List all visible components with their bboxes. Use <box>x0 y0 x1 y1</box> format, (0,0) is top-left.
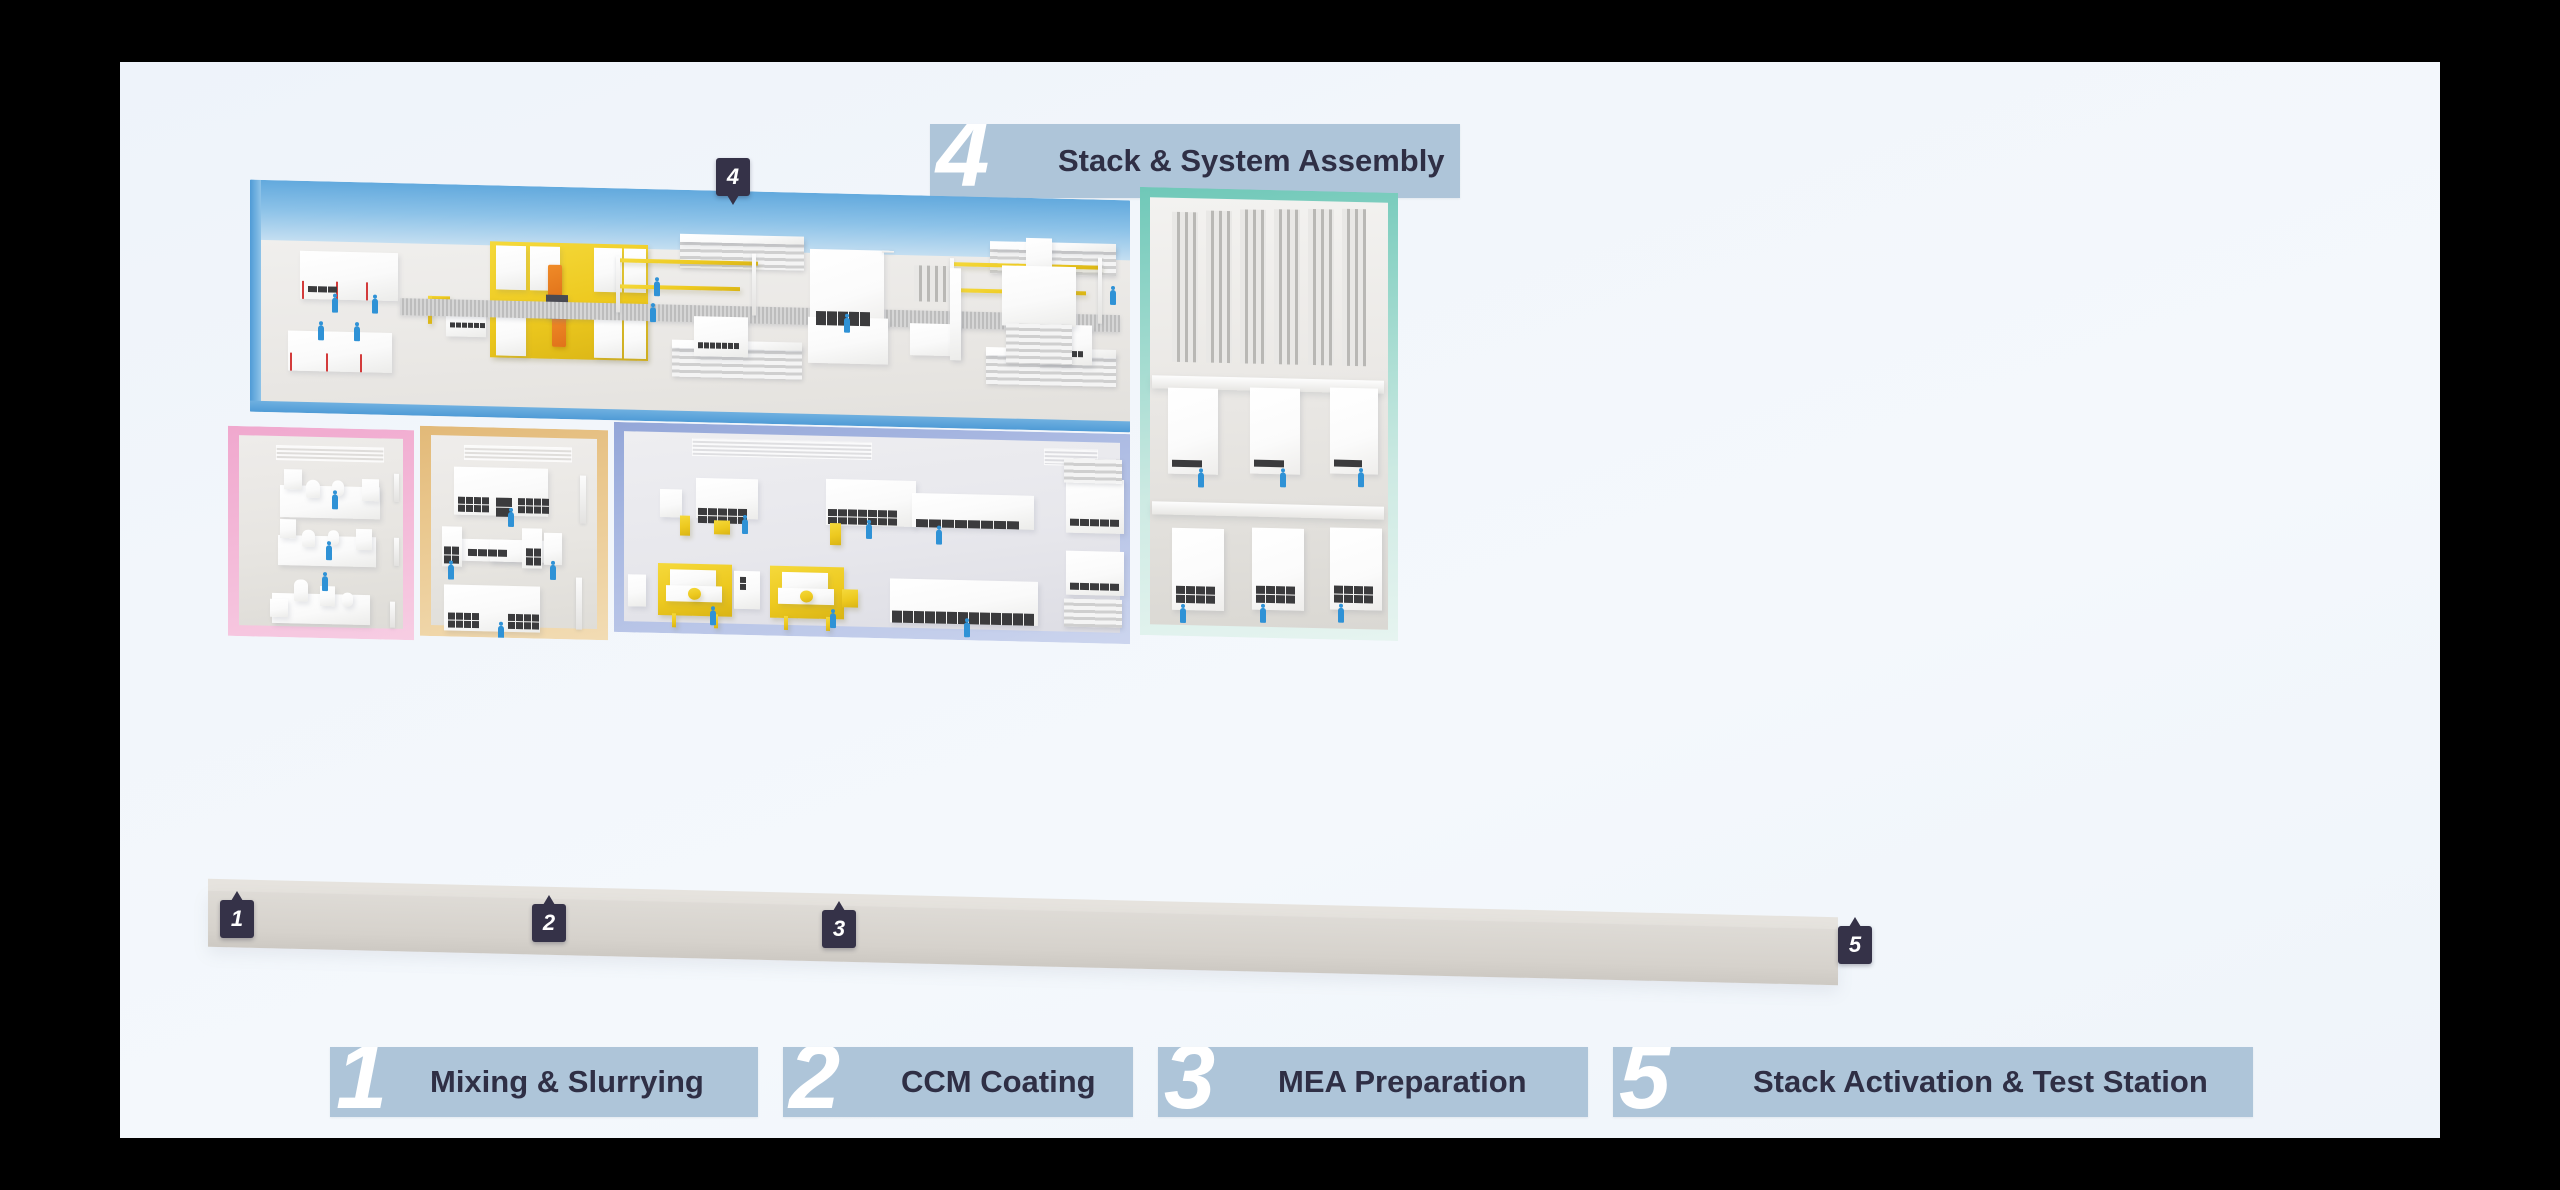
worker-figure <box>742 519 748 534</box>
press-leg <box>672 613 676 627</box>
legend-item-5[interactable]: 5 Stack Activation & Test Station <box>1613 1047 2253 1117</box>
transfer-unit <box>734 571 760 610</box>
wall-pipe <box>394 538 399 566</box>
worker-figure <box>448 564 454 579</box>
panel-grid <box>458 497 489 513</box>
worker-figure <box>710 610 716 625</box>
loader-rack <box>680 515 690 535</box>
worker-figure <box>322 576 328 591</box>
panel-grid <box>1256 586 1295 604</box>
panel-grid <box>518 498 549 514</box>
panel-grid <box>1176 586 1215 604</box>
worker-figure <box>936 530 942 545</box>
mixer-vessel <box>284 469 302 489</box>
worker-figure <box>1260 608 1266 623</box>
mixer-vessel <box>270 599 288 617</box>
legend-item-5-number: 5 <box>1619 1047 1666 1117</box>
legend-item-2[interactable]: 2 CCM Coating <box>783 1047 1133 1117</box>
floor-marker-5[interactable]: 5 <box>1838 926 1872 964</box>
mixer-vessel <box>362 479 379 501</box>
station-display <box>1334 460 1362 468</box>
legend-item-2-label: CCM Coating <box>901 1064 1096 1100</box>
storage-rack <box>1064 599 1122 628</box>
worker-figure <box>1180 608 1186 623</box>
room-stack-activation-test <box>1140 187 1398 641</box>
press-disc <box>800 590 813 602</box>
worker-figure <box>1358 472 1364 487</box>
legend-item-3-label: MEA Preparation <box>1278 1064 1527 1100</box>
mixer-vessel <box>280 519 296 538</box>
floor-marker-2[interactable]: 2 <box>532 904 566 942</box>
legend-item-3-number: 3 <box>1164 1047 1211 1117</box>
room4-right-objects <box>250 180 1130 433</box>
test-rack-column <box>1274 209 1300 365</box>
feeder-unit <box>714 520 730 534</box>
worker-figure <box>508 512 514 527</box>
panel-grid <box>526 548 541 565</box>
worker-figure <box>326 545 332 560</box>
mixer-vessel <box>294 579 308 601</box>
room-mea-preparation <box>614 422 1130 644</box>
legend-item-5-label: Stack Activation & Test Station <box>1753 1064 2208 1100</box>
zone-legend: 1 Mixing & Slurrying 2 CCM Coating 3 MEA… <box>330 1047 2253 1117</box>
worker-figure <box>866 524 872 539</box>
panel-grid <box>1070 519 1119 527</box>
wall-pipe <box>576 577 582 629</box>
legend-item-1[interactable]: 1 Mixing & Slurrying <box>330 1047 758 1117</box>
panel-grid <box>448 612 479 628</box>
worker-figure <box>498 626 504 641</box>
ceiling-vent <box>276 445 384 463</box>
legend-item-1-label: Mixing & Slurrying <box>430 1064 704 1100</box>
test-rack-column <box>1308 209 1334 366</box>
floor-marker-4[interactable]: 4 <box>716 158 750 196</box>
panel-grid <box>468 549 507 557</box>
worker-figure <box>1280 472 1286 487</box>
floor-marker-1[interactable]: 1 <box>220 900 254 938</box>
factory-3d-scene: 1 2 3 4 5 <box>120 170 2440 1050</box>
wall-pipe <box>394 474 399 502</box>
room-mixing-slurrying <box>228 426 414 640</box>
worker-figure <box>1338 608 1344 623</box>
worker-figure <box>550 565 556 580</box>
press-disc <box>688 588 701 600</box>
feeder-unit <box>830 523 841 545</box>
test-rack-column <box>1172 212 1198 363</box>
worker-figure <box>1198 472 1204 487</box>
mixer-vessel <box>342 592 353 606</box>
wall-pipe <box>580 476 586 524</box>
side-cabinet <box>628 574 646 606</box>
panel-grid <box>740 577 746 590</box>
press-leg <box>784 616 788 630</box>
worker-figure <box>332 494 338 509</box>
worker-figure <box>964 622 970 637</box>
output-chute <box>842 589 858 607</box>
wall-pipe <box>390 602 395 628</box>
storage-rack <box>1064 459 1122 484</box>
floor-marker-3[interactable]: 3 <box>822 910 856 948</box>
legend-item-1-number: 1 <box>336 1047 383 1117</box>
worker-figure <box>830 613 836 628</box>
station-display <box>1254 460 1284 468</box>
legend-item-3[interactable]: 3 MEA Preparation <box>1158 1047 1588 1117</box>
panel-grid <box>508 614 539 630</box>
test-rack-column <box>1342 209 1366 367</box>
mixer-vessel <box>302 530 315 547</box>
test-rack-column <box>1206 211 1232 364</box>
panel-grid <box>1070 583 1119 591</box>
legend-item-2-number: 2 <box>789 1047 836 1117</box>
mixer-vessel <box>306 480 320 498</box>
room-ccm-coating <box>420 426 608 640</box>
test-rack-column <box>1240 209 1266 364</box>
factory-layout-canvas: 4 Stack & System Assembly <box>120 62 2440 1138</box>
mea-side-unit <box>660 489 682 518</box>
mixer-vessel <box>356 529 372 550</box>
ceiling-vent <box>464 445 572 463</box>
station-display <box>1172 460 1202 468</box>
panel-grid <box>1334 586 1373 604</box>
